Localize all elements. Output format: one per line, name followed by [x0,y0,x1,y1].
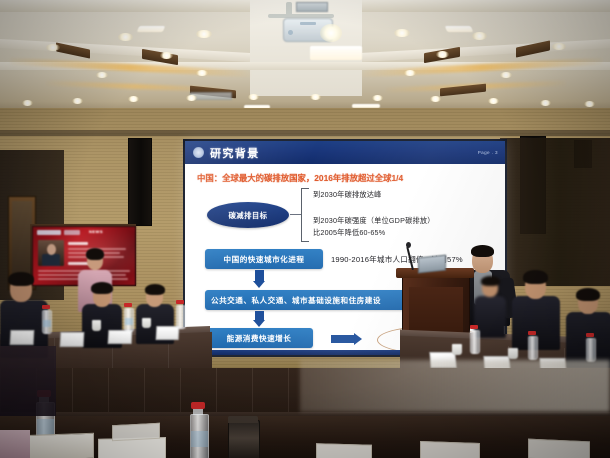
downlight [22,100,33,106]
slide-flow-box-3: 能源消费快速增长 [205,328,313,348]
bottle-cap [176,300,184,304]
slide-seal-logo-icon [193,147,204,158]
downlight [394,29,410,37]
slide-flow-box-3-label: 能源消费快速增长 [227,333,292,344]
nameplate [60,332,85,347]
downlight [540,100,551,106]
colored-paper [0,430,30,458]
paper-sheet [98,437,166,458]
downlight [372,95,383,101]
red-display-banner-text: NEWS [89,229,103,234]
audience-hair [86,248,104,260]
ceiling-light-panel [445,26,473,32]
portrait-body [42,254,60,266]
water-bottle-foreground [190,414,209,458]
bottle-label [191,431,208,447]
audience-hair [145,284,165,295]
wall-dark-curtain [500,138,610,286]
downlight [160,52,173,59]
slide-title: 研究背景 [210,145,260,161]
slide-page-number: Page . 3 [478,150,498,155]
slide-ellipse-connector [290,214,301,215]
downlight [404,70,416,76]
bottle-cap [528,331,536,335]
slide-bullet-3: 比2005年降低60-65% [313,228,385,238]
downlight [196,70,208,76]
audience-hair [8,272,34,286]
conference-room-photo: NEWS 研究背景 Page . 3 中国：全球最大的碳排放国家，2016年排放… [0,0,610,458]
water-bottle [528,336,538,360]
downlight [436,51,449,58]
podium-microphone-head [406,242,411,248]
paper-stack [20,433,94,458]
downlight [500,72,512,78]
downlight [46,44,60,51]
water-bottle [470,330,480,354]
ac-vent [296,2,328,12]
downlight [488,98,499,104]
slide-target-ellipse: 碳减排目标 [207,202,289,228]
slide-down-arrow-1-head [253,281,265,288]
water-bottle [176,305,186,329]
audience-hair [576,288,600,301]
presenter-hair [471,245,494,257]
slide-target-ellipse-label: 碳减排目标 [229,210,268,221]
wall-upper-band [0,130,610,136]
red-display-logo [37,230,61,235]
nameplate [108,330,133,344]
thermos-flask [228,420,260,458]
ceiling-light-panel [137,26,165,32]
downlight [72,98,83,104]
bottle-cap [42,305,50,309]
slide-bullet-1: 到2030年碳排放达峰 [313,190,382,200]
slide-flow-box-1: 中国的快速城市化进程 [205,249,323,269]
paper-cup [92,320,101,331]
paper-cup [142,318,151,328]
bottle-cap [470,325,478,329]
bottle-label [43,320,51,327]
red-display-logo-secondary [64,230,80,235]
slide-flow-box-2: 公共交通、私人交通、城市基础设施和住房建设 [205,290,423,310]
projector-lens [320,24,342,42]
downlight [186,95,197,101]
slide-red-headline: 中国：全球最大的碳排放国家，2016年排放超过全球1/4 [197,172,403,184]
slide-right-arrow-head [354,333,362,345]
bottle-cap [124,303,132,307]
paper-cup [452,344,462,355]
bottle-cap-foreground [191,402,205,409]
downlight [128,96,139,102]
slide-brace [301,188,309,242]
loudspeaker-left [128,138,152,226]
slide-down-arrow-2-head [253,320,265,327]
slide-bullet-2: 到2030年碳强度（单位GDP碳排放） [313,216,435,226]
downlight [584,101,595,107]
downlight [118,33,133,41]
paper-sheet [112,423,160,442]
ceiling-light-panel [310,46,362,60]
chair-back [0,346,56,416]
audience-hair [91,282,113,294]
nameplate [10,330,35,345]
projector-label [300,22,316,25]
audience-hair [481,276,500,286]
downlight [552,43,566,50]
slide-header: 研究背景 Page . 3 [185,141,505,164]
thermos-lid [228,416,258,423]
paper-sheet [528,439,590,458]
bottle-cap [586,333,594,337]
bottle-label [37,419,54,435]
bottle-label [125,318,133,325]
downlight [248,94,259,100]
audience-member [474,276,506,334]
bottle-neck [193,408,203,415]
water-bottle [586,338,596,362]
slide-flow-box-1-label: 中国的快速城市化进程 [224,254,305,265]
portrait-head [47,244,56,255]
podium-laptop [418,255,446,274]
audience-hair [523,270,548,284]
water-bottle [42,310,52,334]
slide-right-arrow-stem [331,335,355,343]
downlight [310,94,321,100]
slide-flow-box-2-label: 公共交通、私人交通、城市基础设施和住房建设 [211,295,381,306]
water-bottle [124,308,134,332]
paper-sheet [316,443,372,458]
paper-sheet [420,441,480,458]
downlight [430,96,441,102]
projector-vent [288,30,293,35]
foreground-wall-light [300,360,610,412]
nameplate [156,326,180,340]
downlight [196,30,212,38]
paper-cup [508,348,518,359]
downlight [472,32,487,40]
red-display-title-bar [68,242,88,245]
red-display-portrait [38,240,64,266]
downlight [96,72,108,78]
